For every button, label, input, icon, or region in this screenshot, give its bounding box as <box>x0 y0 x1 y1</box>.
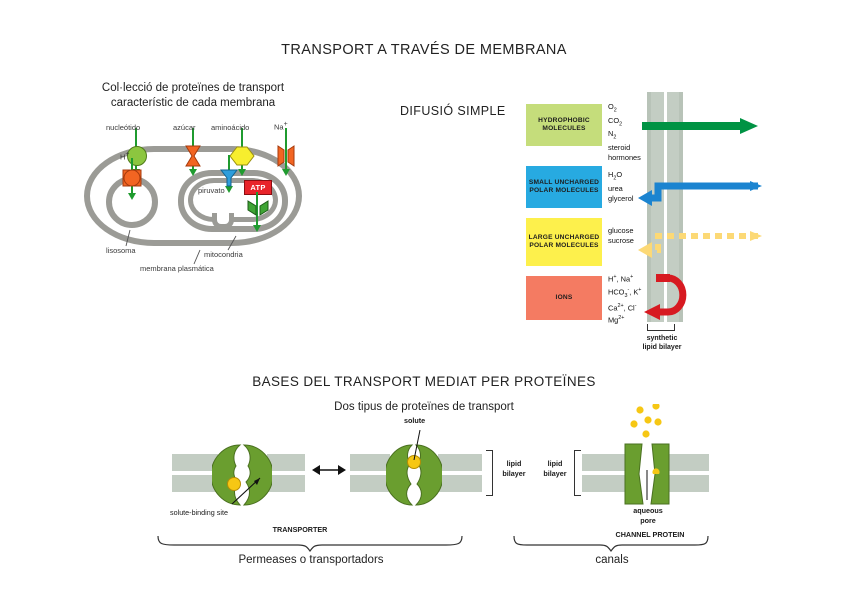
cell-panel-caption: Col·lecció de proteïnes de transport car… <box>78 81 308 111</box>
lipid-slab-a-right-top <box>267 454 305 471</box>
molecule-h2o: H2O <box>608 170 633 184</box>
aqueous-pore-line1: aqueous <box>624 506 672 516</box>
molecule-list-ions: H+, Na+ HCO3-, K+ Ca2+, Cl- Mg2+ <box>608 272 641 326</box>
cell-caption-line2: característic de cada membrana <box>78 96 308 111</box>
molecule-list-hydrophobic: O2 CO2 N2 steroid hormones <box>608 102 641 163</box>
brace-channel <box>512 534 712 554</box>
category-box-hydrophobic: HYDROPHOBIC MOLECULES <box>526 104 602 146</box>
bilayer-caption-line2: lipid bilayer <box>622 343 702 352</box>
molecule-hormones: hormones <box>608 153 641 163</box>
molecule-co2: CO2 <box>608 116 641 130</box>
lipid-bilayer-2-line1: lipid <box>538 459 572 469</box>
lipid-bilayer-2-line2: bilayer <box>538 469 572 479</box>
mediated-subtitle: Dos tipus de proteïnes de transport <box>0 400 848 415</box>
lipid-bilayer-1-line1: lipid <box>496 459 532 469</box>
bilayer-caption-line1: synthetic <box>622 334 702 343</box>
label-aqueous-pore: aqueous pore <box>624 506 672 525</box>
lipid-bilayer-bracket-1 <box>486 450 493 496</box>
molecule-glucose: glucose <box>608 226 634 236</box>
molecule-n2: N2 <box>608 129 641 143</box>
aqueous-pore-line2: pore <box>624 516 672 526</box>
lipid-slab-b-left-top <box>350 454 390 471</box>
category-box-small-polar: SMALL UNCHARGED POLAR MOLECULES <box>526 166 602 208</box>
page-title: TRANSPORT A TRAVÉS DE MEMBRANA <box>0 42 848 58</box>
arrow-small-polar <box>638 176 768 216</box>
label-mitocondria: mitocondria <box>204 250 243 259</box>
label-solute-binding-site: solute-binding site <box>170 508 228 517</box>
molecule-hco3-k: HCO3-, K+ <box>608 285 641 301</box>
molecule-h-na: H+, Na+ <box>608 272 641 285</box>
molecule-urea: urea <box>608 184 633 194</box>
bilayer-caption: synthetic lipid bilayer <box>622 334 702 352</box>
arrow-ions <box>638 274 768 326</box>
simple-diffusion-diagram: synthetic lipid bilayer HYDROPHOBIC MOLE… <box>398 92 758 382</box>
solute-leader <box>396 430 436 460</box>
lipid-slab-b-right-top <box>438 454 482 471</box>
cell-leader-lines <box>78 118 308 283</box>
label-lipid-bilayer-1: lipid bilayer <box>496 459 532 478</box>
molecule-mg: Mg2+ <box>608 313 641 326</box>
label-lisosoma: lisosoma <box>106 246 136 255</box>
cell-diagram: nucleótido azúcar aminoácido Na+ H+ <box>78 118 308 283</box>
molecule-o2: O2 <box>608 102 641 116</box>
molecule-sucrose: sucrose <box>608 236 634 246</box>
molecule-list-large-polar: glucose sucrose <box>608 226 634 246</box>
molecule-list-small-polar: H2O urea glycerol <box>608 170 633 204</box>
brace-label-channels: canals <box>512 554 712 566</box>
cell-caption-line1: Col·lecció de proteïnes de transport <box>78 81 308 96</box>
mediated-title: BASES DEL TRANSPORT MEDIAT PER PROTEÏNES <box>0 374 848 389</box>
conformation-change-arrow <box>312 462 346 478</box>
lipid-slab-b-right-bot <box>438 475 482 492</box>
mediated-transport-diagram: solute-binding site solute lipid bilayer… <box>150 420 710 570</box>
label-membrana-plasmatica: membrana plasmática <box>140 264 214 273</box>
lipid-bilayer-bracket-2 <box>574 450 581 496</box>
arrow-hydrophobic <box>642 116 772 146</box>
molecule-steroid: steroid <box>608 143 641 153</box>
aqueous-pore-leader <box>640 470 660 504</box>
label-lipid-bilayer-2: lipid bilayer <box>538 459 572 478</box>
lipid-slab-c-left-bot <box>582 475 626 492</box>
molecule-glycerol: glycerol <box>608 194 633 204</box>
arrow-large-polar <box>638 228 768 270</box>
category-box-ions: IONS <box>526 276 602 320</box>
solute-binding-leader <box>202 472 292 512</box>
lipid-slab-b-left-bot <box>350 475 390 492</box>
label-solute: solute <box>404 416 425 425</box>
molecule-ca-cl: Ca2+, Cl- <box>608 301 641 314</box>
brace-transporter <box>156 534 466 554</box>
category-box-large-polar: LARGE UNCHARGED POLAR MOLECULES <box>526 218 602 266</box>
brace-label-transporters: Permeases o transportadors <box>156 554 466 566</box>
solute-particles <box>612 404 682 474</box>
lipid-bilayer-1-line2: bilayer <box>496 469 532 479</box>
